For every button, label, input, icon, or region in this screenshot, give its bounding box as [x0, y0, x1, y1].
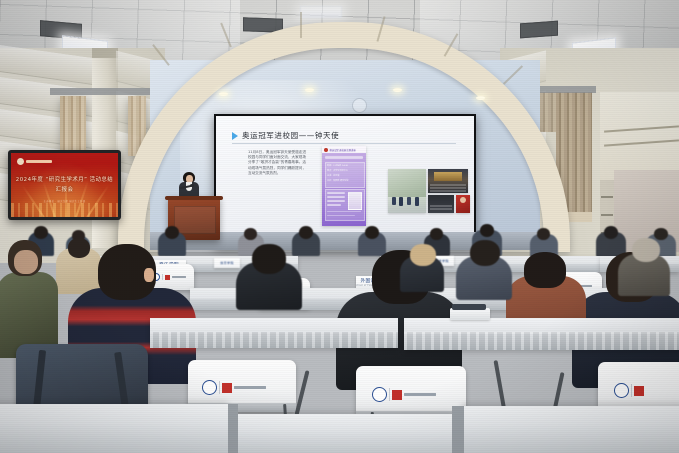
arch-downlight-3	[393, 88, 402, 92]
audience-olive-jacket-face	[14, 250, 38, 274]
poster-field-1: 时间：11月8日 14:30	[327, 164, 361, 168]
poster-header-text: 奥运冠军进校园主题讲座	[330, 148, 356, 152]
arch-downlight-1	[219, 92, 228, 96]
poster-line-1	[327, 192, 345, 194]
table-top-surface	[404, 318, 679, 332]
conference-hall-photo: 2024年度 “研究生学术月” 活动总结 汇报会 主办单位 · 研究生院 研究生…	[0, 0, 679, 453]
right-wall-slat-1	[601, 196, 613, 198]
ceiling-vent-right	[520, 21, 558, 39]
red-institute-mark-icon	[392, 390, 402, 400]
slide-photo-group	[428, 195, 454, 213]
curtain-rail-right	[536, 86, 596, 93]
table-top-surface	[150, 318, 398, 332]
university-emblem-icon	[17, 158, 24, 165]
slide-photo-outdoor	[388, 169, 426, 213]
table-foreground-center	[236, 414, 454, 453]
table-row-front-left	[150, 318, 398, 348]
audience-grey-coat-head	[470, 240, 500, 266]
left-pillar-cap	[92, 48, 118, 58]
projection-screen: 奥运冠军进校园——钟天使 11月8日，奥运冠军钟天使受邀走进校园与同学们面对面交…	[216, 116, 474, 244]
poster-field-3: 主讲：钟天使	[327, 174, 361, 178]
curtain-rail-left	[50, 88, 150, 95]
audience-right-elder-head	[632, 238, 660, 262]
arch-seam-3	[300, 12, 302, 38]
table-skirt	[404, 332, 679, 350]
red-institute-mark-icon	[222, 383, 232, 393]
poster-line-3	[327, 200, 345, 202]
tv-skyline-graphic	[11, 203, 118, 217]
audience-far-4-head	[244, 228, 257, 240]
poster-line-4	[327, 204, 341, 206]
audience-far-8-head	[480, 224, 494, 237]
poster-header-bar: 奥运冠军进校园主题讲座	[322, 146, 366, 153]
audience-far-6-head	[365, 226, 379, 239]
red-institute-mark-icon	[634, 386, 644, 396]
slide-poster-image: 奥运冠军进校园主题讲座 时间：11月8日 14:30 地点：大学生活动中心 主讲…	[322, 146, 366, 226]
slide-photo-speaker	[456, 195, 470, 213]
table-foreground-right	[462, 406, 679, 453]
audience-far-9-head	[537, 228, 550, 240]
red-institute-mark-icon	[165, 275, 170, 280]
auditorium-row-3	[430, 190, 466, 192]
play-triangle-icon	[232, 132, 238, 140]
university-round-emblem-icon	[372, 387, 387, 402]
tv-title-line2: 汇报会	[11, 185, 118, 193]
audience-beige-jacket-head	[68, 238, 90, 258]
arch-downlight-4	[476, 96, 485, 100]
audience-striped-sweater-ear	[144, 268, 154, 282]
name-card-pe-text: 体育学院	[220, 261, 234, 265]
chair-logo-wordmark	[404, 393, 436, 396]
audience-far-3-head	[165, 226, 179, 239]
tv-university-logo	[17, 158, 52, 165]
auditorium-stage	[434, 172, 462, 181]
university-round-emblem-icon	[202, 380, 217, 395]
table-row-front-right	[404, 318, 679, 350]
audience-far-7-head	[430, 228, 443, 240]
slide-body-text: 11月8日，奥运冠军钟天使受邀走进校园与同学们面对面交流，大家现场分享了“敢拼才…	[248, 150, 306, 176]
tv-logo-wordmark	[26, 160, 52, 162]
outdoor-figure-4	[415, 197, 419, 206]
chair-logo-wordmark	[172, 276, 186, 278]
chair-logo-wordmark	[234, 386, 266, 389]
chair-arm-bar-right	[494, 360, 507, 412]
table-foreground-left	[0, 404, 228, 453]
slide-title-underline	[232, 143, 456, 144]
podium-front-panel	[174, 206, 216, 234]
audience-far-5-head	[299, 226, 313, 239]
poster-bar-1	[325, 156, 363, 159]
table-skirt	[150, 332, 398, 348]
chair-arm-bar-left	[294, 370, 309, 416]
audience-black-jacket-mid-head	[252, 244, 286, 274]
audience-far-11-head	[654, 228, 668, 240]
dark-item-on-table	[452, 304, 486, 310]
table-gap-right	[452, 406, 464, 453]
name-card-pe: 体育学院	[214, 258, 240, 268]
auditorium-row-2	[430, 187, 466, 189]
university-round-emblem-icon	[614, 383, 629, 398]
slide-photo-auditorium	[428, 169, 468, 193]
audience-far-1-head	[34, 226, 48, 239]
group-row-2	[430, 208, 452, 210]
curtain-right-inner	[540, 92, 558, 132]
microphone-head	[190, 184, 194, 187]
projection-screen-frame: 奥运冠军进校园——钟天使 11月8日，奥运冠军钟天使受邀走进校园与同学们面对面交…	[214, 114, 476, 246]
audience-far-10-head	[604, 226, 618, 239]
arch-downlight-2	[305, 88, 314, 92]
wall-mounted-tv: 2024年度 “研究生学术月” 活动总结 汇报会 主办单位 · 研究生院 研究生…	[8, 150, 121, 220]
auditorium-row-1	[430, 184, 466, 186]
tv-screen: 2024年度 “研究生学术月” 活动总结 汇报会 主办单位 · 研究生院 研究生…	[11, 153, 118, 217]
poster-field-2: 地点：大学生活动中心	[327, 169, 361, 173]
audience-mid-person-a-head	[410, 244, 436, 266]
outdoor-figure-2	[399, 197, 403, 206]
podium-top-edge	[165, 196, 223, 200]
poster-line-2	[327, 196, 345, 198]
poster-portrait-photo	[348, 192, 362, 210]
group-row-1	[430, 205, 452, 207]
right-wall-slat-2	[601, 214, 613, 216]
table-gap-left	[228, 404, 238, 453]
slide-title-row: 奥运冠军进校园——钟天使	[232, 130, 339, 141]
outdoor-figure-1	[392, 197, 396, 205]
poster-field-4: 主办：校团委 研究生院	[327, 179, 361, 183]
slide-title: 奥运冠军进校园——钟天使	[242, 130, 339, 141]
poster-emblem-icon	[324, 148, 328, 152]
tv-title-line1: 2024年度 “研究生学术月” 活动总结	[11, 175, 118, 183]
ceiling-light-center	[300, 6, 342, 18]
audience-rust-sweater-head	[524, 252, 566, 288]
outdoor-figure-3	[407, 197, 411, 205]
speaker-photo-head	[460, 197, 466, 203]
